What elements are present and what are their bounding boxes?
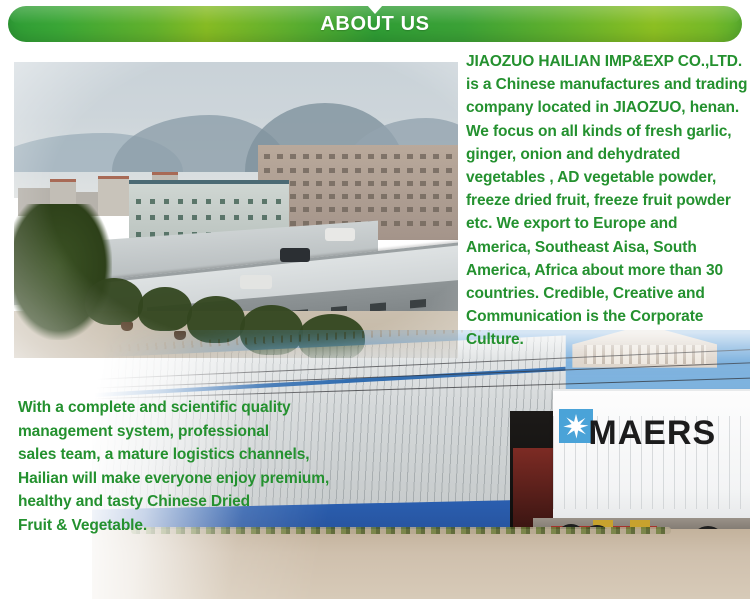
maersk-shipping-container: MAERS bbox=[553, 389, 750, 531]
potted-shrub bbox=[85, 278, 143, 325]
parked-car bbox=[280, 248, 310, 262]
potted-shrub bbox=[138, 287, 191, 331]
company-description-paragraph: JIAOZUO HAILIAN IMP&EXP CO.,LTD. is a Ch… bbox=[466, 50, 748, 352]
quality-statement-paragraph: With a complete and scientific quality m… bbox=[18, 396, 338, 537]
dirt-ground bbox=[92, 529, 750, 599]
about-us-page: ABOUT US bbox=[0, 0, 750, 599]
about-us-banner: ABOUT US bbox=[0, 6, 750, 42]
triangle-down-notch-icon bbox=[367, 5, 383, 14]
parked-car bbox=[325, 228, 355, 241]
maersk-wordmark: MAERS bbox=[588, 414, 716, 453]
parked-car bbox=[240, 275, 272, 289]
factory-aerial-photo bbox=[14, 62, 458, 358]
